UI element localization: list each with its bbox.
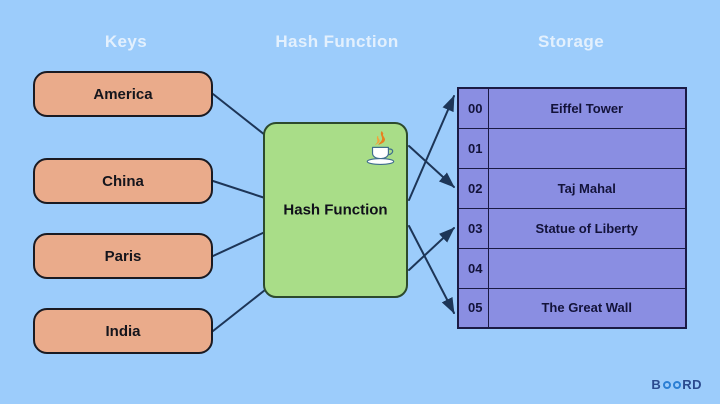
key-label: China: [102, 173, 144, 190]
key-label: India: [105, 323, 140, 340]
slot-value: Taj Mahal: [488, 168, 686, 208]
hashing-diagram: Keys Hash Function Storage: [0, 0, 720, 404]
watermark-prefix: B: [651, 377, 661, 392]
column-heading-storage: Storage: [487, 32, 655, 52]
java-logo-icon: [364, 130, 398, 166]
key-box-paris[interactable]: Paris: [33, 233, 213, 279]
storage-table: 00 Eiffel Tower 01 02 Taj Mahal 03 Statu…: [457, 87, 687, 329]
watermark-circle-icon: [663, 381, 671, 389]
column-heading-keys: Keys: [56, 32, 196, 52]
table-row[interactable]: 05 The Great Wall: [458, 288, 686, 328]
slot-index: 04: [458, 248, 488, 288]
key-to-hash-lines: [213, 94, 265, 331]
key-box-china[interactable]: China: [33, 158, 213, 204]
watermark-circle-icon: [673, 381, 681, 389]
table-row[interactable]: 01: [458, 128, 686, 168]
hash-function-label: Hash Function: [265, 202, 406, 219]
table-row[interactable]: 02 Taj Mahal: [458, 168, 686, 208]
hash-to-storage-arrows: [409, 96, 454, 313]
slot-value: [488, 128, 686, 168]
board-watermark: B RD: [651, 377, 702, 392]
slot-index: 05: [458, 288, 488, 328]
slot-index: 02: [458, 168, 488, 208]
slot-index: 01: [458, 128, 488, 168]
table-row[interactable]: 04: [458, 248, 686, 288]
slot-value: The Great Wall: [488, 288, 686, 328]
key-box-america[interactable]: America: [33, 71, 213, 117]
table-row[interactable]: 00 Eiffel Tower: [458, 88, 686, 128]
hash-function-box[interactable]: Hash Function: [263, 122, 408, 298]
key-label: Paris: [105, 248, 142, 265]
slot-index: 03: [458, 208, 488, 248]
watermark-suffix: RD: [682, 377, 702, 392]
slot-value: Statue of Liberty: [488, 208, 686, 248]
slot-index: 00: [458, 88, 488, 128]
table-row[interactable]: 03 Statue of Liberty: [458, 208, 686, 248]
key-box-india[interactable]: India: [33, 308, 213, 354]
slot-value: Eiffel Tower: [488, 88, 686, 128]
column-heading-hash-function: Hash Function: [243, 32, 431, 52]
key-label: America: [93, 86, 152, 103]
slot-value: [488, 248, 686, 288]
